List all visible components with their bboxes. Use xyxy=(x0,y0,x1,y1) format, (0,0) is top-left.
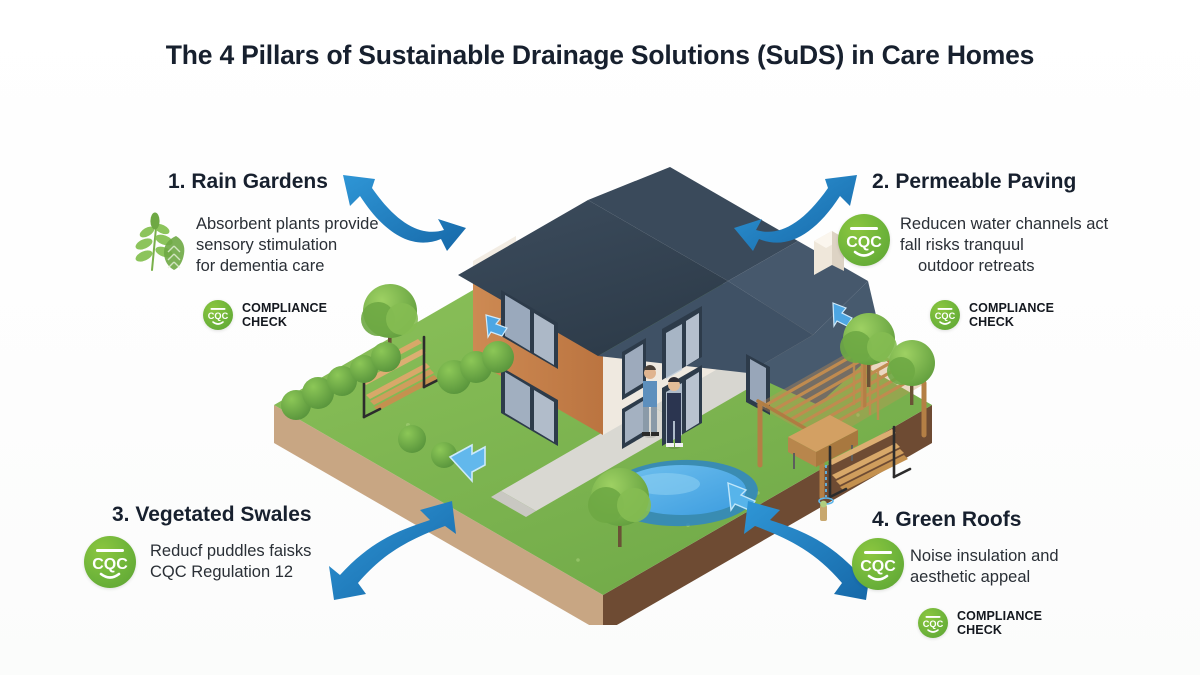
pillar-heading-2: 2. Permeable Paving xyxy=(872,170,1076,194)
cqc-badge-4: CQC xyxy=(852,538,904,590)
svg-text:CQC: CQC xyxy=(208,311,229,321)
svg-text:CQC: CQC xyxy=(923,619,944,629)
pillar-rain-gardens: 1. Rain Gardens Absorbent plants provide… xyxy=(168,170,328,210)
pillar-body-3-line-2: CQC Regulation 12 xyxy=(150,562,360,583)
pillar-body-4-line-1: Noise insulation and xyxy=(910,546,1100,567)
pillar-body-3: Reducf puddles faisks CQC Regulation 12 xyxy=(150,541,360,583)
pillar-body-2-line-3: outdoor retreats xyxy=(900,256,1136,277)
svg-text:CQC: CQC xyxy=(846,234,882,251)
compliance-check-label-2: COMPLIANCE CHECK xyxy=(969,301,1054,330)
leaf-sprig-icon xyxy=(126,206,198,278)
pillar-heading-4: 4. Green Roofs xyxy=(872,508,1021,532)
pillar-body-1-line-1: Absorbent plants provide xyxy=(196,214,411,235)
svg-text:CQC: CQC xyxy=(860,558,896,575)
compliance-line-2: CHECK xyxy=(957,623,1042,638)
svg-text:CQC: CQC xyxy=(92,556,128,573)
compliance-line-1: COMPLIANCE xyxy=(969,301,1054,316)
pillar-body-4-line-2: aesthetic appeal xyxy=(910,567,1100,588)
compliance-line-2: CHECK xyxy=(969,315,1054,330)
compliance-check-label-3: COMPLIANCE CHECK xyxy=(957,609,1042,638)
pillar-body-3-line-1: Reducf puddles faisks xyxy=(150,541,360,562)
pillar-body-4: Noise insulation and aesthetic appeal xyxy=(910,546,1100,588)
svg-text:CQC: CQC xyxy=(935,311,956,321)
compliance-line-1: COMPLIANCE xyxy=(957,609,1042,624)
pillar-body-1-line-3: for dementia care xyxy=(196,256,411,277)
compliance-check-3: CQC COMPLIANCE CHECK xyxy=(918,608,1042,638)
cqc-badge-icon: CQC xyxy=(852,538,904,590)
pillar-heading-1: 1. Rain Gardens xyxy=(168,170,328,194)
compliance-check-label-1: COMPLIANCE CHECK xyxy=(242,301,327,330)
pillar-body-2-line-2: fall risks tranquul xyxy=(900,235,1136,256)
cqc-badge-icon: CQC xyxy=(84,536,136,588)
pillar-permeable-paving: 2. Permeable Paving Reducen water channe… xyxy=(872,170,1076,210)
compliance-check-1: CQC COMPLIANCE CHECK xyxy=(203,300,327,330)
pillar-body-2-line-1: Reducen water channels act xyxy=(900,214,1136,235)
compliance-check-2: CQC COMPLIANCE CHECK xyxy=(930,300,1054,330)
compliance-line-2: CHECK xyxy=(242,315,327,330)
cqc-badge-icon: CQC xyxy=(930,300,960,330)
cqc-badge-icon: CQC xyxy=(918,608,948,638)
compliance-line-1: COMPLIANCE xyxy=(242,301,327,316)
pillar-body-1: Absorbent plants provide sensory stimula… xyxy=(196,214,411,277)
cqc-badge-icon: CQC xyxy=(203,300,233,330)
cqc-badge-2: CQC xyxy=(838,214,890,266)
pillar-heading-3: 3. Vegetated Swales xyxy=(112,503,312,527)
page-title: The 4 Pillars of Sustainable Drainage So… xyxy=(0,40,1200,71)
isometric-care-home-illustration xyxy=(258,105,948,625)
pillar-body-2: Reducen water channels act fall risks tr… xyxy=(900,214,1136,277)
pillar-vegetated-swales: 3. Vegetated Swales Reducf puddles faisk… xyxy=(112,503,312,539)
cqc-badge-icon: CQC xyxy=(838,214,890,266)
infographic-canvas: The 4 Pillars of Sustainable Drainage So… xyxy=(0,0,1200,675)
cqc-badge-3: CQC xyxy=(84,536,136,588)
pillar-body-1-line-2: sensory stimulation xyxy=(196,235,411,256)
